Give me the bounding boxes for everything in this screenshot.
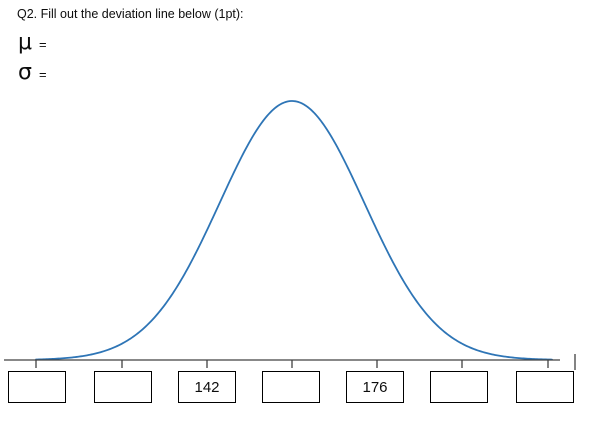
parameter-row-standard-deviation: σ = [18,62,54,84]
page-title: Q2. Fill out the deviation line below (1… [17,6,244,22]
answer-box-5[interactable]: 176 [346,371,404,403]
worksheet-page: Q2. Fill out the deviation line below (1… [0,0,600,427]
bell-curve-path [36,101,552,360]
answer-box-value-3: 142 [194,380,219,395]
normal-distribution-curve [0,85,600,375]
bell-curve-plot [0,85,600,375]
answer-box-row: 142176 [0,371,600,405]
answer-box-2[interactable] [94,371,152,403]
answer-box-1[interactable] [8,371,66,403]
sigma-equals-sign: = [39,68,47,81]
answer-box-value-5: 176 [362,380,387,395]
axis-tick-group [36,360,548,368]
answer-box-6[interactable] [430,371,488,403]
mu-equals-sign: = [39,38,47,51]
mu-symbol: μ [18,32,32,54]
answer-box-7[interactable] [516,371,574,403]
answer-box-3[interactable]: 142 [178,371,236,403]
sigma-symbol: σ [18,62,32,84]
answer-box-4[interactable] [262,371,320,403]
parameter-row-mean: μ = [18,32,54,54]
